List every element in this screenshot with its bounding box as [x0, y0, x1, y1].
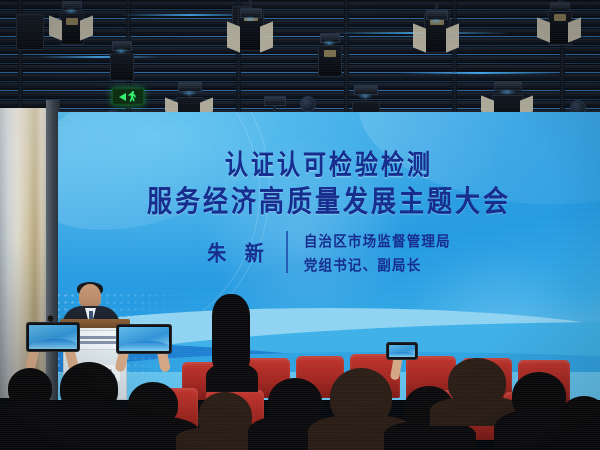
- raised-phone: [386, 342, 418, 360]
- speaker-org-line-2: 党组书记、副局长: [304, 253, 451, 275]
- audience-shoulders: [544, 428, 600, 450]
- speaker-credit-block: 朱 新 自治区市场监督管理局 党组书记、副局长: [58, 230, 600, 274]
- conference-hall-photo: 认证认可检验检测 服务经济高质量发展主题大会 朱 新 自治区市场监督管理局 党组…: [0, 0, 600, 450]
- standing-attendee-hair: [212, 294, 250, 372]
- audience: [0, 310, 600, 450]
- exit-running-man-icon: [128, 91, 137, 102]
- exit-arrow-icon: [119, 93, 126, 101]
- exit-sign: [112, 88, 144, 105]
- ceiling-camera: [300, 96, 316, 112]
- phone-screen: [389, 345, 415, 357]
- screen-title-line-2: 服务经济高质量发展主题大会: [58, 186, 600, 218]
- raised-phone: [26, 322, 80, 352]
- raised-phone: [116, 324, 172, 354]
- ceiling-speaker: [16, 14, 44, 50]
- credit-divider: [286, 231, 288, 273]
- phone-screen: [119, 327, 169, 351]
- standing-attendee-shoulders: [206, 362, 258, 392]
- speaker-org-block: 自治区市场监督管理局 党组书记、副局长: [304, 230, 451, 274]
- screen-title-line-1: 认证认可检验检测: [58, 152, 600, 182]
- screen-title-block: 认证认可检验检测 服务经济高质量发展主题大会: [58, 154, 600, 215]
- phone-screen: [29, 325, 77, 349]
- speaker-name: 朱 新: [207, 237, 270, 267]
- speaker-org-line-1: 自治区市场监督管理局: [304, 229, 451, 251]
